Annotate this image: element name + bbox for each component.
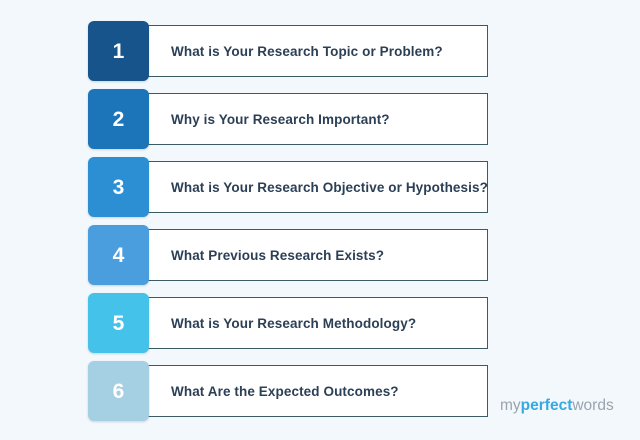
step-number: 6	[113, 381, 125, 402]
step-number-badge: 6	[88, 361, 149, 421]
step-label: Why is Your Research Important?	[143, 112, 390, 127]
logo-text-my: my	[500, 397, 521, 414]
step-label: What is Your Research Topic or Problem?	[143, 44, 443, 59]
brand-logo: myperfectwords	[500, 398, 614, 414]
infographic-canvas: What is Your Research Topic or Problem? …	[0, 0, 640, 440]
step-card[interactable]: What Previous Research Exists?	[142, 229, 488, 281]
list-item[interactable]: What is Your Research Objective or Hypot…	[88, 157, 488, 217]
step-label: What is Your Research Methodology?	[143, 316, 416, 331]
list-item[interactable]: What is Your Research Topic or Problem? …	[88, 21, 488, 81]
step-number-badge: 3	[88, 157, 149, 217]
step-number-badge: 5	[88, 293, 149, 353]
step-number-badge: 4	[88, 225, 149, 285]
logo-text-perfect: perfect	[521, 397, 573, 414]
step-number: 4	[113, 245, 125, 266]
step-card[interactable]: What Are the Expected Outcomes?	[142, 365, 488, 417]
list-item[interactable]: Why is Your Research Important? 2	[88, 89, 488, 149]
list-item[interactable]: What is Your Research Methodology? 5	[88, 293, 488, 353]
step-number-badge: 2	[88, 89, 149, 149]
list-item[interactable]: What Are the Expected Outcomes? 6	[88, 361, 488, 421]
step-number: 3	[113, 177, 125, 198]
list-item[interactable]: What Previous Research Exists? 4	[88, 225, 488, 285]
step-number-badge: 1	[88, 21, 149, 81]
step-card[interactable]: What is Your Research Objective or Hypot…	[142, 161, 488, 213]
step-label: What is Your Research Objective or Hypot…	[143, 180, 488, 195]
step-label: What Are the Expected Outcomes?	[143, 384, 399, 399]
steps-list: What is Your Research Topic or Problem? …	[88, 21, 488, 429]
logo-text-words: words	[572, 397, 613, 414]
step-label: What Previous Research Exists?	[143, 248, 384, 263]
step-card[interactable]: What is Your Research Methodology?	[142, 297, 488, 349]
step-card[interactable]: What is Your Research Topic or Problem?	[142, 25, 488, 77]
step-number: 1	[113, 41, 125, 62]
step-number: 2	[113, 109, 125, 130]
step-number: 5	[113, 313, 125, 334]
step-card[interactable]: Why is Your Research Important?	[142, 93, 488, 145]
